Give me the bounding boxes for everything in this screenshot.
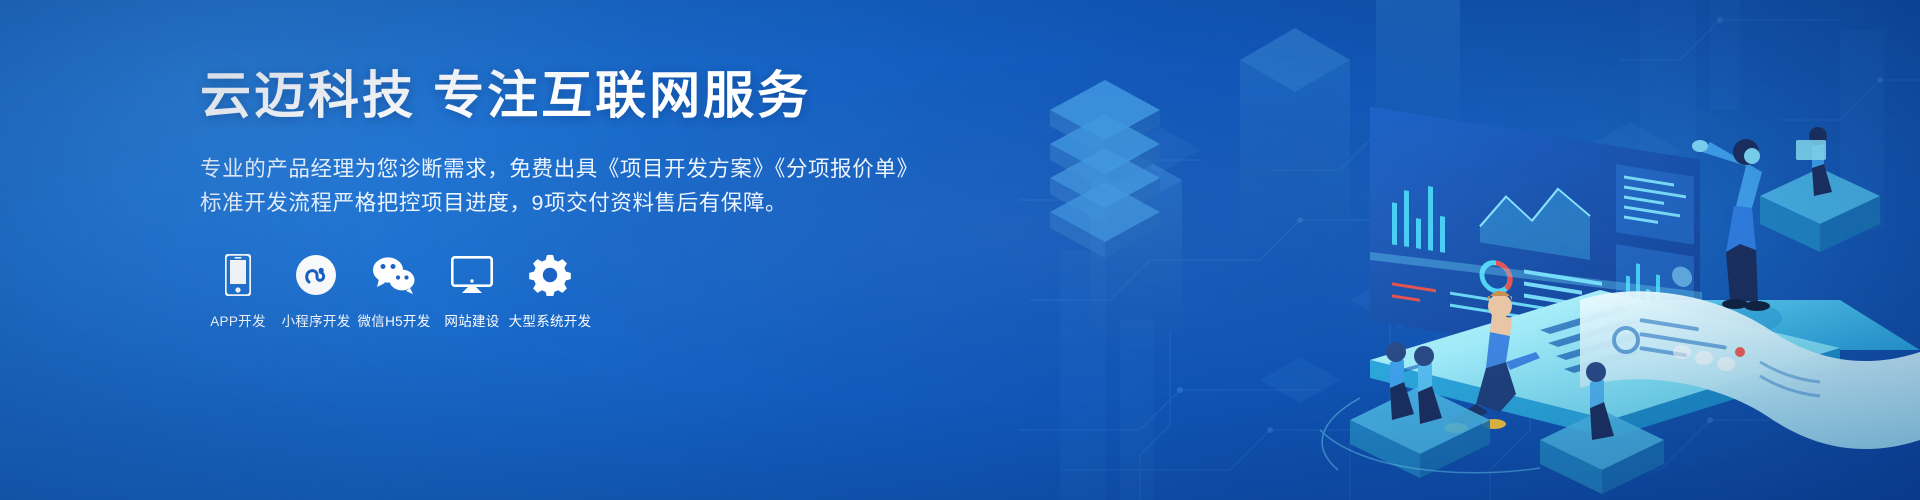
smartphone [1370,290,1840,438]
platform-plate [1630,300,1920,362]
isometric-illustration [940,0,1920,500]
side-pedestal-lower-left [1350,342,1490,478]
mini-program-icon [295,254,337,296]
report-sheet [1580,291,1920,449]
subtitle-line-2: 标准开发流程严格把控项目进度，9项交付资料售后有保障。 [200,186,960,220]
banner-content: 云迈科技 专注互联网服务 专业的产品经理为您诊断需求，免费出具《项目开发方案》《… [200,66,960,330]
gear-icon [529,254,571,296]
subtitle-line-1: 专业的产品经理为您诊断需求，免费出具《项目开发方案》《分项报价单》 [200,152,960,186]
side-pedestal-lower-right [1540,362,1664,494]
side-pedestal-upper [1760,127,1880,252]
circuit-lines-decoration [1020,0,1920,500]
server-stack [1050,80,1160,258]
service-list: APP开发 小程序开发 [202,254,960,330]
service-item-app[interactable]: APP开发 [202,254,274,330]
service-label: 大型系统开发 [509,310,592,330]
service-label: 微信H5开发 [357,310,430,330]
background-glow-right [1140,0,1920,500]
service-label: 网站建设 [444,310,499,330]
service-label: APP开发 [210,310,266,330]
subtitle-block: 专业的产品经理为您诊断需求，免费出具《项目开发方案》《分项报价单》 标准开发流程… [200,152,960,220]
service-label: 小程序开发 [282,310,351,330]
person-pair-left [1386,342,1442,424]
mobile-phone-icon [225,254,251,296]
monitor-icon [451,254,493,296]
promo-banner: 云迈科技 专注互联网服务 专业的产品经理为您诊断需求，免费出具《项目开发方案》《… [0,0,1920,500]
person-standing [1692,139,1770,311]
service-item-miniprogram[interactable]: 小程序开发 [280,254,352,330]
person-small-right [1586,362,1614,440]
person-seated [1444,291,1540,433]
page-title: 云迈科技 专注互联网服务 [200,66,960,126]
wechat-icon [371,254,417,296]
service-item-system[interactable]: 大型系统开发 [514,254,586,330]
service-item-website[interactable]: 网站建设 [436,254,508,330]
person-small-upper [1809,127,1832,196]
service-item-wechat[interactable]: 微信H5开发 [358,254,430,330]
dashboard-screen [1370,107,1702,374]
